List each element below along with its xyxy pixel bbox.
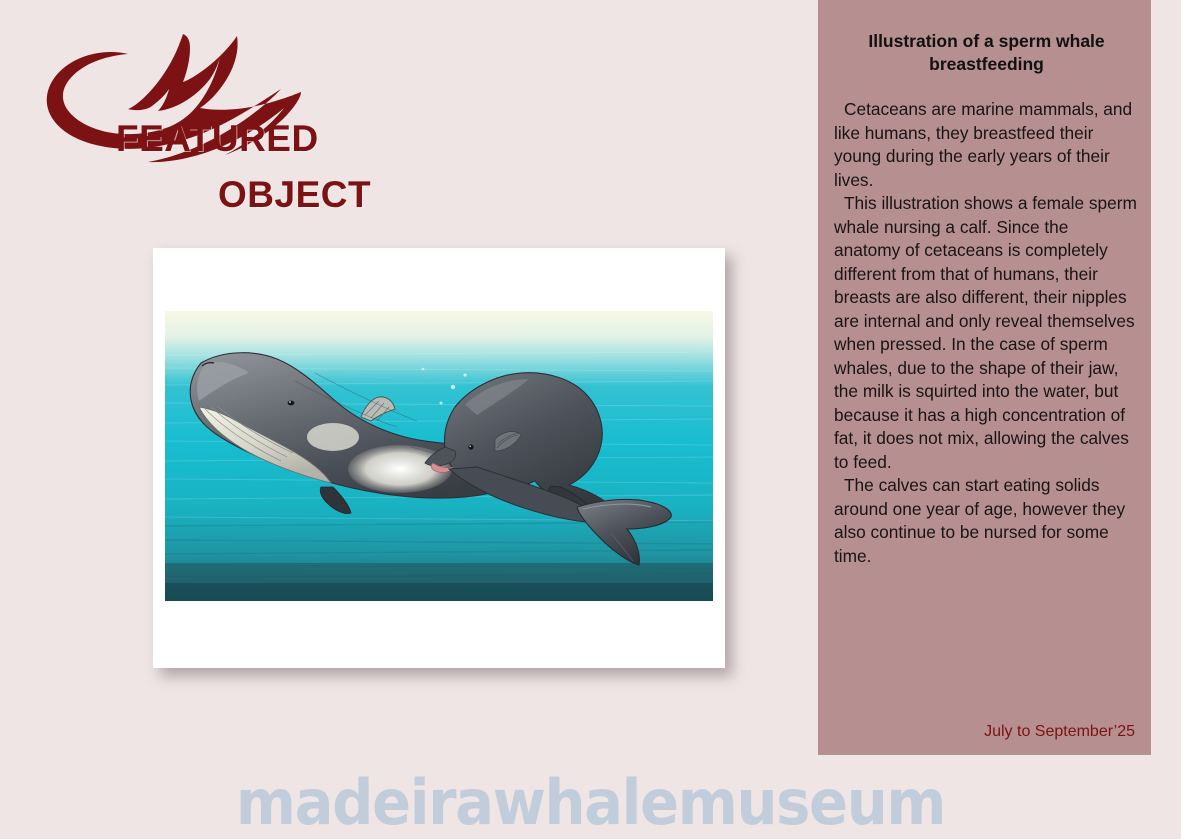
exhibition-date: July to September’25 — [984, 723, 1135, 741]
panel-paragraph-1: Cetaceans are marine mammals, and like h… — [834, 98, 1139, 192]
info-panel: Illustration of a sperm whale breastfeed… — [818, 0, 1151, 755]
logo-text-object: OBJECT — [218, 176, 371, 213]
museum-watermark: madeirawhalemuseum — [41, 766, 1139, 839]
panel-paragraph-3: The calves can start eating solids aroun… — [834, 474, 1139, 568]
artwork-card — [153, 248, 725, 668]
sperm-whale-illustration — [165, 311, 713, 601]
panel-title: Illustration of a sperm whale breastfeed… — [840, 30, 1133, 76]
panel-paragraph-2: This illustration shows a female sperm w… — [834, 192, 1139, 474]
featured-object-logo: FEATURED OBJECT — [40, 24, 400, 204]
logo-text-featured: FEATURED — [116, 120, 319, 157]
